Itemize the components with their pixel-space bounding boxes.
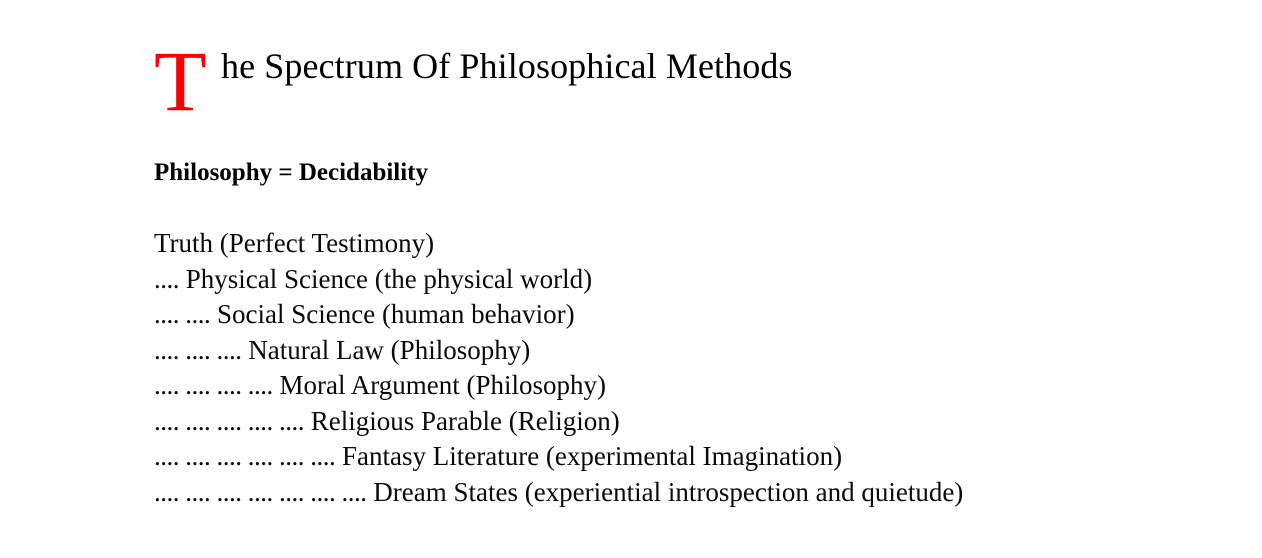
document-page: The Spectrum Of Philosophical Methods Ph… [0, 0, 1262, 558]
spectrum-list: Truth (Perfect Testimony) .... Physical … [154, 226, 963, 510]
spectrum-item-label: Social Science (human behavior) [210, 299, 574, 329]
spectrum-item: .... .... Social Science (human behavior… [154, 297, 963, 333]
spectrum-item-label: Physical Science (the physical world) [179, 264, 592, 294]
document-content: The Spectrum Of Philosophical Methods Ph… [154, 44, 1214, 88]
spectrum-item: .... .... .... .... Moral Argument (Phil… [154, 368, 963, 404]
spectrum-item-indent: .... .... .... .... .... .... .... [154, 477, 367, 507]
spectrum-item-label: Fantasy Literature (experimental Imagina… [335, 441, 842, 471]
spectrum-item-label: Dream States (experiential introspection… [367, 477, 964, 507]
title-dropcap: T [154, 38, 207, 124]
subtitle-heading: Philosophy = Decidability [154, 158, 428, 188]
spectrum-item-indent: .... [154, 264, 179, 294]
spectrum-item: .... .... .... .... .... Religious Parab… [154, 404, 963, 440]
spectrum-item-indent: .... .... [154, 299, 210, 329]
spectrum-item-indent: .... .... .... .... .... .... [154, 441, 335, 471]
spectrum-item: .... .... .... .... .... .... Fantasy Li… [154, 439, 963, 475]
title-text: he Spectrum Of Philosophical Methods [221, 44, 793, 88]
spectrum-item: .... .... .... Natural Law (Philosophy) [154, 333, 963, 369]
spectrum-item-label: Truth (Perfect Testimony) [154, 228, 434, 258]
spectrum-item-indent: .... .... .... .... .... [154, 406, 304, 436]
page-title: The Spectrum Of Philosophical Methods [154, 44, 1214, 88]
spectrum-item-indent: .... .... .... .... [154, 370, 273, 400]
spectrum-item: .... Physical Science (the physical worl… [154, 262, 963, 298]
spectrum-item-indent: .... .... .... [154, 335, 242, 365]
spectrum-item-label: Natural Law (Philosophy) [242, 335, 531, 365]
spectrum-item: Truth (Perfect Testimony) [154, 226, 963, 262]
spectrum-item: .... .... .... .... .... .... .... Dream… [154, 475, 963, 511]
spectrum-item-label: Religious Parable (Religion) [304, 406, 620, 436]
spectrum-item-label: Moral Argument (Philosophy) [273, 370, 606, 400]
